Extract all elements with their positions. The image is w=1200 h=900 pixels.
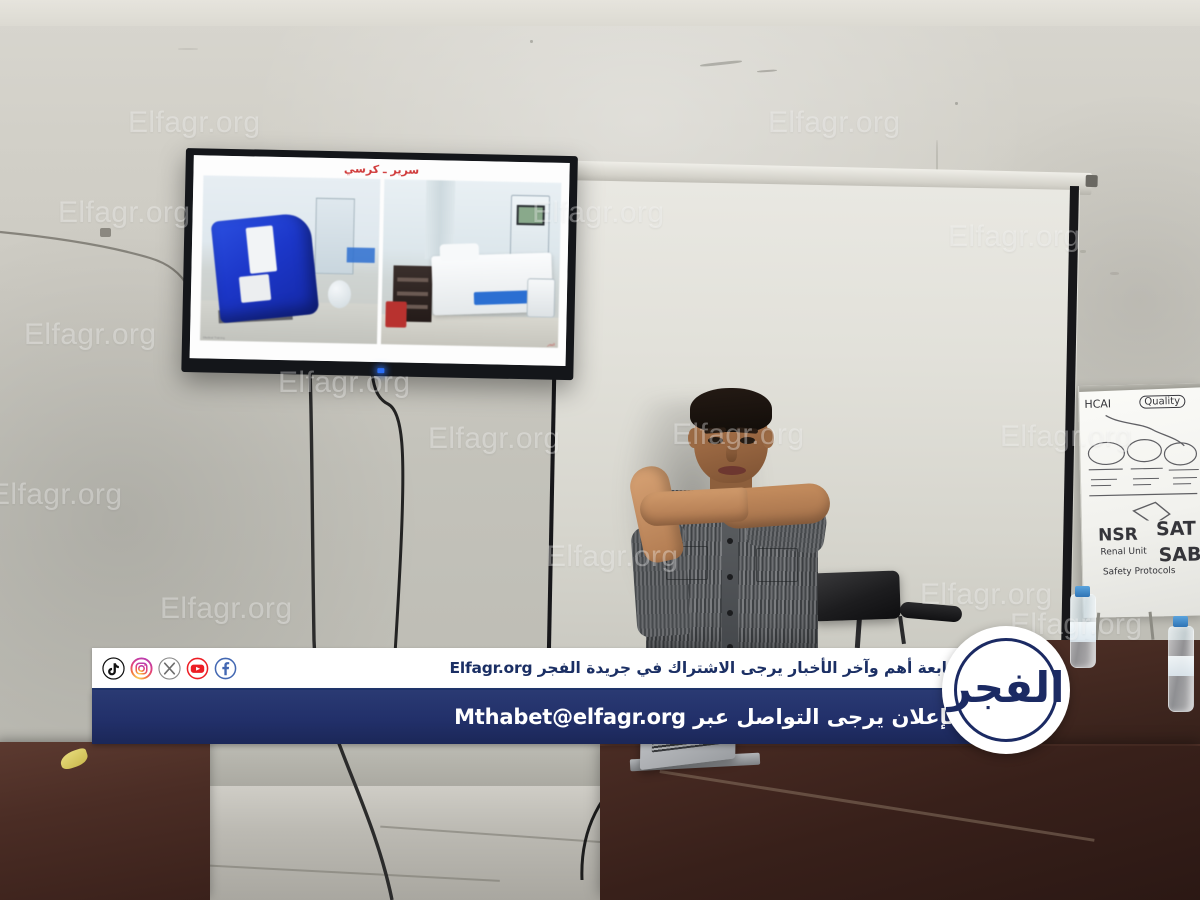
presenter-hair <box>690 388 772 432</box>
elfagr-logo: الفجر <box>942 626 1070 754</box>
slide-credit-left: Medical Training <box>203 335 225 339</box>
instagram-icon[interactable] <box>130 657 153 680</box>
presenter-ear <box>688 428 700 448</box>
slide-image-pair: Medical Training <box>200 175 561 347</box>
presentation-slide: سرير ـ كرسي Medical Training <box>190 155 570 366</box>
presenter-eye <box>708 437 723 444</box>
facebook-icon[interactable] <box>214 657 237 680</box>
flipchart-note: HCAI <box>1084 397 1111 411</box>
bottle-label <box>1168 656 1194 676</box>
shirt-button <box>727 610 733 616</box>
flipchart-diagram <box>1080 409 1200 522</box>
slide-credit-right: الفجر <box>547 343 555 347</box>
wall-mark <box>178 48 198 50</box>
flipchart-note: NSR <box>1098 525 1138 546</box>
tv-power-led <box>377 368 384 373</box>
flipchart-note: SAT <box>1156 518 1196 541</box>
tiktok-icon[interactable] <box>102 657 125 680</box>
bed-pillow <box>439 243 478 261</box>
floor-tile-seam <box>200 864 500 882</box>
x-icon[interactable] <box>158 657 181 680</box>
flipchart-note: SAB <box>1158 543 1200 566</box>
flipchart-clip <box>1078 383 1200 392</box>
flipchart-note: Renal Unit <box>1100 547 1146 558</box>
banner-subscribe-text: لمتابعة أهم وآخر الأخبار يرجى الاشتراك ف… <box>237 659 974 677</box>
machine-display <box>516 205 545 225</box>
clinic-cabinet <box>315 198 356 275</box>
floor-tile-seam <box>380 826 620 845</box>
shirt-placket <box>722 512 738 662</box>
shirt-button <box>727 574 733 580</box>
clinic-blue-strip <box>347 248 376 263</box>
shirt-button <box>727 538 733 544</box>
wall-mounted-tv: سرير ـ كرسي Medical Training <box>181 148 578 380</box>
presenter-eye <box>740 437 755 444</box>
news-photo: سرير ـ كرسي Medical Training <box>0 0 1200 900</box>
presenter-ear <box>762 428 774 448</box>
ceiling-edge <box>0 0 1200 26</box>
chair-cushion-lower <box>239 274 272 303</box>
office-chair <box>811 570 901 621</box>
logo-ring: الفجر <box>954 638 1058 742</box>
slide-photo-dialysis-chair: Medical Training <box>200 175 380 344</box>
slide-photo-hospital-bed: الفجر <box>381 179 561 348</box>
banner-bottom-strip: للإعلان يرجى التواصل عبر Mthabet@elfagr.… <box>92 690 982 744</box>
logo-wordmark: الفجر <box>948 667 1065 709</box>
bottle-cap <box>1173 616 1188 627</box>
bottle-cap <box>1075 586 1090 597</box>
shirt-pocket-right <box>756 548 798 582</box>
elfagr-promo-banner: لمتابعة أهم وآخر الأخبار يرجى الاشتراك ف… <box>92 648 1070 746</box>
wall-junction-box <box>100 228 111 237</box>
youtube-icon[interactable] <box>186 657 209 680</box>
chair-cushion-upper <box>246 225 277 274</box>
wall-mark <box>1080 250 1086 253</box>
podium-desk <box>600 746 1200 900</box>
bottle-label <box>1070 622 1096 642</box>
flipchart-whiteboard: HCAI Quality NSR SAT SAB Renal Unit Safe… <box>1078 383 1200 618</box>
tv-screen: سرير ـ كرسي Medical Training <box>190 155 570 366</box>
presenter-right-hand <box>639 487 749 527</box>
bed-footboard <box>527 278 556 318</box>
wall-mark <box>1110 272 1119 275</box>
left-desk <box>0 742 210 900</box>
wall-mark <box>955 102 958 105</box>
banner-top-strip: لمتابعة أهم وآخر الأخبار يرجى الاشتراك ف… <box>92 648 982 690</box>
social-icon-row <box>102 657 237 680</box>
wall-mark <box>530 40 533 43</box>
flipchart-note: Safety Protocols <box>1103 566 1176 578</box>
presenter-mouth <box>718 466 746 475</box>
red-bag <box>385 301 407 328</box>
flipchart-note: Quality <box>1139 395 1185 409</box>
presenter-nose <box>726 444 737 462</box>
banner-contact-text: للإعلان يرجى التواصل عبر Mthabet@elfagr.… <box>454 705 964 729</box>
